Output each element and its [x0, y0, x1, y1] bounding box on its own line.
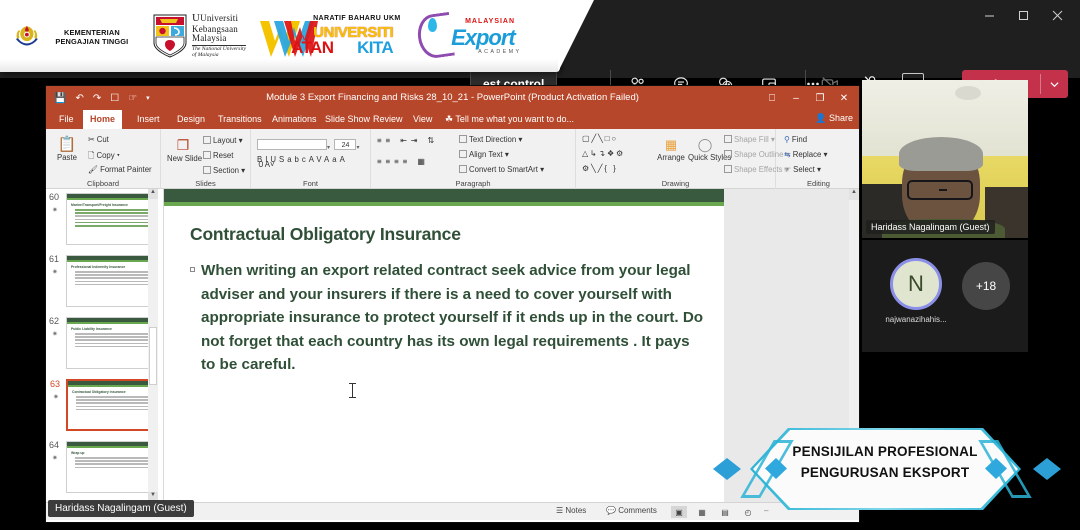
screen: General" est control: [0, 0, 1080, 530]
slide-accent-bar2: [67, 198, 156, 200]
bullet-square-icon: [190, 267, 195, 272]
thumbnail-title: Public Liability Insurance: [71, 327, 156, 331]
arrange-icon[interactable]: ▦: [654, 137, 688, 153]
shape-fill-icon: [724, 135, 732, 143]
slide-thumbnail[interactable]: 64 ✷ Wrap up: [66, 441, 157, 493]
slide-number: 63: [50, 379, 60, 389]
participant-avatar-item[interactable]: N najwanazihahis...: [880, 258, 952, 324]
watan-label: ATAN: [291, 38, 333, 58]
thumbnail-title: Wrap up: [71, 451, 156, 455]
logo-malaysian-export-academy: MALAYSIAN Export ACADEMY: [418, 12, 538, 60]
align-buttons[interactable]: ≡≡≡≡ ▦: [377, 157, 429, 166]
select-button[interactable]: ☞ Select ▾: [784, 165, 821, 174]
powerpoint-ribbon: 📋 Paste ✂ Cut 🗋 Copy ▾ 🖌 Format Painter …: [46, 129, 859, 189]
shapes-gallery[interactable]: ▢╱╲□○: [582, 134, 618, 143]
shadow-button[interactable]: S: [279, 155, 287, 164]
layout-button[interactable]: Layout ▾: [203, 136, 243, 145]
paragraph-group-label: Paragraph: [371, 179, 575, 188]
align-text-button[interactable]: Align Text ▾: [459, 150, 509, 159]
institution-logos-banner: KEMENTERIAN PENGAJIAN TINGGI UUniversiti: [0, 0, 560, 72]
reset-icon: [203, 151, 211, 159]
shape-fill-button[interactable]: Shape Fill ▾: [724, 135, 775, 144]
powerpoint-document-title: Module 3 Export Financing and Risks 28_1…: [46, 92, 859, 103]
slide-title[interactable]: Contractual Obligatory Insurance: [190, 224, 724, 245]
clipboard-group-label: Clipboard: [46, 179, 160, 188]
slide-thumbnail-selected[interactable]: 63 ✷ Contractual Obligatory Insurance: [66, 379, 157, 431]
logo-list: KEMENTERIAN PENGAJIAN TINGGI UUniversiti: [10, 0, 538, 72]
ribbon-group-clipboard: 📋 Paste ✂ Cut 🗋 Copy ▾ 🖌 Format Painter …: [46, 129, 161, 189]
ribbon-group-slides: ❐ New Slide Layout ▾ Reset Section ▾ Sli…: [161, 129, 251, 189]
text-direction-button[interactable]: Text Direction ▾: [459, 135, 522, 144]
close-icon[interactable]: [1040, 0, 1074, 30]
banner-right-tail-icon: [1033, 458, 1061, 480]
ribbon-display-options-icon[interactable]: ⎕: [761, 86, 783, 110]
slide-thumbnail[interactable]: 60 ✷ Marine/Transport/Freight Insurance: [66, 193, 157, 245]
shapes-gallery-row2[interactable]: △↳↴❖⚙: [582, 149, 625, 158]
notes-button[interactable]: ☰ Notes: [556, 506, 586, 515]
underline-button[interactable]: U: [270, 155, 279, 164]
animation-icon: ✷: [52, 268, 58, 276]
quick-styles-label: Quick Styles: [688, 153, 722, 162]
active-speaker-tile[interactable]: Haridass Nagalingam (Guest): [862, 80, 1028, 238]
copy-button[interactable]: 🗋 Copy ▾: [88, 150, 120, 163]
banner-left-tail-icon: [713, 458, 741, 480]
cut-button[interactable]: ✂ Cut: [88, 135, 109, 144]
tab-insert[interactable]: Insert: [130, 110, 167, 129]
section-icon: [203, 166, 211, 174]
paste-label: Paste: [52, 153, 82, 162]
restore-icon[interactable]: ❐: [809, 86, 831, 110]
slide-accent-bar2: [67, 446, 156, 448]
slide-accent-bar2: [68, 385, 155, 387]
avatar: N: [890, 258, 942, 310]
bold-button[interactable]: B: [257, 155, 265, 164]
tab-home[interactable]: Home: [83, 110, 122, 129]
lightbulb-icon: ☘: [445, 114, 453, 124]
slide-accent-bar2: [67, 260, 156, 262]
banner-line1: PENSIJILAN PROFESIONAL: [765, 442, 1005, 463]
tab-transitions[interactable]: Transitions: [211, 110, 269, 129]
export-label: Export: [451, 25, 515, 51]
powerpoint-ribbon-tabs: File Home Insert Design Transitions Anim…: [46, 110, 859, 129]
replace-button[interactable]: ⇆ Replace ▾: [784, 150, 827, 159]
slide-header-accent: [164, 202, 724, 206]
notes-icon: ☰: [556, 506, 563, 515]
font-size-input[interactable]: 24: [334, 139, 356, 150]
tab-review[interactable]: Review: [366, 110, 410, 129]
export-drop-icon: [428, 18, 437, 32]
tell-me-box[interactable]: ☘ Tell me what you want to do...: [438, 110, 581, 129]
participant-thumbnails-tile: N najwanazihahis... +18: [862, 240, 1028, 352]
academy-label: ACADEMY: [478, 49, 521, 55]
video-person-hair: [899, 137, 983, 171]
window-controls: [972, 0, 1074, 30]
slide-number: 61: [49, 254, 59, 264]
slides-group-label: Slides: [161, 179, 250, 188]
comments-icon: 💬: [606, 506, 616, 515]
layout-icon: [203, 136, 211, 144]
strikethrough-button[interactable]: abc: [287, 155, 309, 164]
cursor-icon: ☞: [784, 165, 791, 174]
slide-header-bar: [164, 189, 724, 202]
banner-line2: PENGURUSAN EKSPORT: [765, 463, 1005, 484]
slide-canvas[interactable]: Contractual Obligatory Insurance When wr…: [164, 189, 724, 502]
logo-universiti-watan-kita: NARATIF BAHARU UKM UNIVERSITI ATAN KITA: [258, 13, 406, 59]
kpt-label: KEMENTERIAN PENGAJIAN TINGGI: [44, 28, 140, 46]
chevron-down-icon[interactable]: [1041, 70, 1068, 98]
copy-icon: 🗋: [88, 151, 94, 160]
shapes-gallery-row3[interactable]: ⚙╲╱{ }: [582, 164, 618, 173]
tab-file[interactable]: File: [52, 110, 81, 129]
list-buttons[interactable]: ≡≡ ⇤⇥ ⇅: [377, 136, 438, 145]
video-person-glasses: [907, 180, 973, 200]
font-name-input[interactable]: [257, 139, 327, 150]
ukm-line3: Malaysia: [192, 34, 246, 43]
overflow-participants-badge[interactable]: +18: [962, 262, 1010, 310]
animation-icon: ✷: [53, 393, 59, 401]
tab-animations[interactable]: Animations: [265, 110, 324, 129]
thumbnail-title: Marine/Transport/Freight Insurance: [71, 203, 156, 207]
close-icon[interactable]: ✕: [833, 86, 855, 110]
jata-negara-icon: [10, 19, 44, 53]
ukm-wordmark: UUniversiti Kebangsaan Malaysia The Nati…: [192, 13, 246, 58]
minimize-icon[interactable]: –: [785, 86, 807, 110]
share-button[interactable]: 👤 Share: [815, 113, 853, 124]
banner-text: PENSIJILAN PROFESIONAL PENGURUSAN EKSPOR…: [765, 442, 1005, 484]
convert-smartart-button[interactable]: Convert to SmartArt ▾: [459, 165, 544, 174]
ukm-crest-icon: [152, 13, 188, 59]
ribbon-group-paragraph: ≡≡ ⇤⇥ ⇅ ≡≡≡≡ ▦ Text Direction ▾ Align Te…: [371, 129, 576, 189]
slide-thumbnail[interactable]: 62 ✷ Public Liability Insurance: [66, 317, 157, 369]
tell-me-label: Tell me what you want to do...: [455, 114, 574, 124]
font-color-button[interactable]: A: [340, 155, 348, 164]
new-slide-label: New Slide: [167, 154, 199, 163]
tab-design[interactable]: Design: [170, 110, 212, 129]
certificate-banner: PENSIJILAN PROFESIONAL PENGURUSAN EKSPOR…: [705, 428, 1065, 510]
logo-ukm: UUniversiti Kebangsaan Malaysia The Nati…: [152, 13, 246, 59]
text-cursor: [352, 384, 353, 397]
paste-icon[interactable]: 📋: [52, 135, 82, 153]
share-person-icon: 👤: [815, 113, 826, 123]
section-button[interactable]: Section ▾: [203, 166, 245, 175]
thumbnail-scrollbar[interactable]: ▲ ▼: [148, 189, 158, 502]
new-slide-icon[interactable]: ❐: [167, 137, 199, 154]
paintbrush-icon: 🖌: [88, 165, 98, 174]
quick-styles-icon[interactable]: ◯: [688, 137, 722, 153]
slide-accent-bar2: [67, 322, 156, 324]
scroll-up-icon[interactable]: ▲: [849, 189, 859, 200]
animation-icon: ✷: [52, 454, 58, 462]
format-painter-button[interactable]: 🖌 Format Painter: [88, 165, 152, 174]
reset-button[interactable]: Reset: [203, 151, 233, 160]
logo-kementerian-pengajian-tinggi: KEMENTERIAN PENGAJIAN TINGGI: [10, 19, 140, 53]
shape-outline-icon: [724, 150, 732, 158]
ukm-sub2: of Malaysia: [192, 53, 246, 59]
thumbnail-title: Contractual Obligatory Insurance: [72, 390, 155, 394]
tab-view[interactable]: View: [406, 110, 439, 129]
maximize-icon[interactable]: [1006, 0, 1040, 30]
animation-icon: ✷: [52, 330, 58, 338]
slide-number: 60: [49, 192, 59, 202]
slide-thumbnail-pane[interactable]: 60 ✷ Marine/Transport/Freight Insurance …: [46, 189, 164, 502]
scroll-thumb[interactable]: [149, 327, 157, 385]
normal-view-icon[interactable]: ▣: [671, 506, 687, 518]
ribbon-group-font: ▾ 24▾ ０A˅ BIUSabcAVAaA Font: [251, 129, 371, 189]
drawing-group-label: Drawing: [576, 179, 775, 188]
ribbon-group-drawing: ▢╱╲□○ △↳↴❖⚙ ⚙╲╱{ } ▦ Arrange ◯ Quick Sty…: [576, 129, 776, 189]
participant-name-tooltip: Haridass Nagalingam (Guest): [48, 500, 194, 517]
animation-icon: ✷: [52, 206, 58, 214]
powerpoint-title-bar: 💾 ↶ ↷ ☐ ☞ ▾ Module 3 Export Financing an…: [46, 86, 859, 110]
slide-body-text[interactable]: When writing an export related contract …: [201, 259, 706, 377]
participant-name-label: Haridass Nagalingam (Guest): [866, 220, 995, 234]
participant-video-column: Haridass Nagalingam (Guest) N najwanazih…: [862, 80, 1028, 430]
magnifier-icon: ⚲: [784, 135, 790, 144]
font-group-label: Font: [251, 179, 370, 188]
editing-group-label: Editing: [776, 179, 861, 188]
text-direction-icon: [459, 135, 467, 143]
comments-button[interactable]: 💬 Comments: [606, 506, 657, 515]
shape-effects-icon: [724, 165, 732, 173]
minimize-icon[interactable]: [972, 0, 1006, 30]
align-text-icon: [459, 150, 467, 158]
thumbnail-title: Professional Indemnity Insurance: [71, 265, 156, 269]
replace-icon: ⇆: [784, 150, 791, 159]
naratif-label: NARATIF BAHARU UKM: [313, 15, 401, 22]
scissors-icon: ✂: [88, 135, 95, 144]
slide-thumbnail[interactable]: 61 ✷ Professional Indemnity Insurance: [66, 255, 157, 307]
kita-label: KITA: [357, 38, 393, 58]
smartart-icon: [459, 165, 467, 173]
scroll-up-icon[interactable]: ▲: [148, 189, 158, 199]
change-case-button[interactable]: Aa: [324, 155, 340, 164]
slide-number: 64: [49, 440, 59, 450]
malaysian-label: MALAYSIAN: [465, 18, 515, 25]
avatar-name-label: najwanazihahis...: [880, 315, 952, 324]
arrange-label: Arrange: [654, 153, 688, 162]
find-button[interactable]: ⚲ Find: [784, 135, 807, 144]
share-text: Share: [829, 113, 853, 123]
character-spacing-button[interactable]: AV: [309, 155, 324, 164]
powerpoint-window-controls: ⎕ – ❐ ✕: [761, 86, 855, 110]
slide-bullet-row[interactable]: When writing an export related contract …: [190, 259, 706, 377]
slide-number: 62: [49, 316, 59, 326]
ribbon-group-editing: ⚲ Find ⇆ Replace ▾ ☞ Select ▾ Editing ▵: [776, 129, 861, 189]
